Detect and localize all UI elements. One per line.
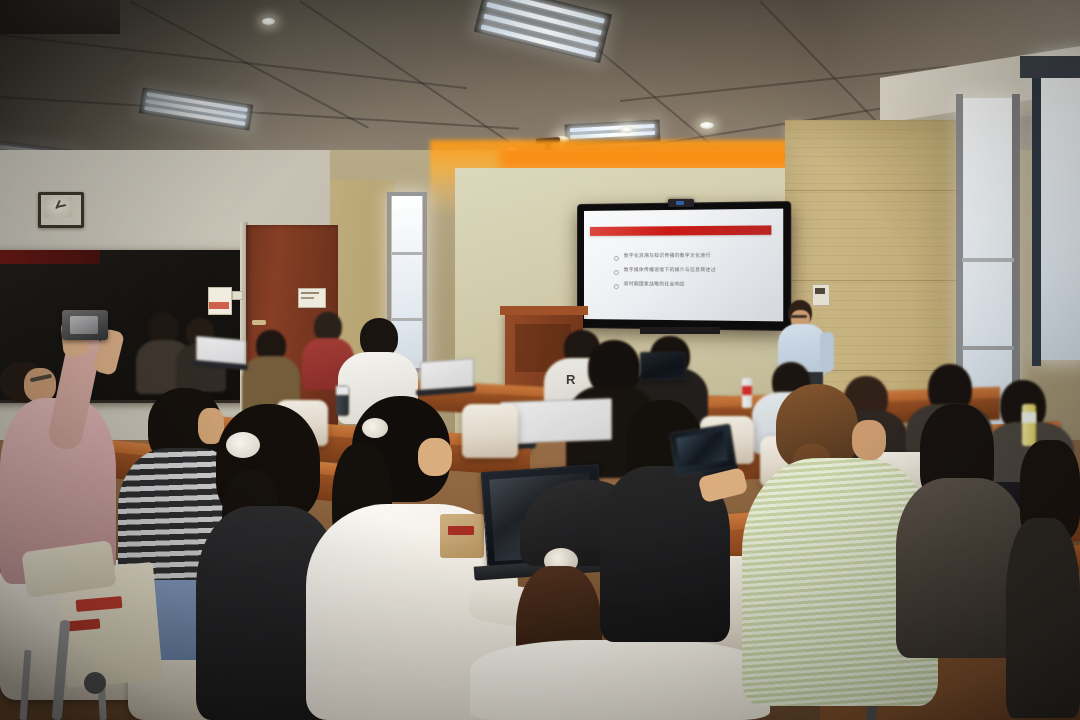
attendee-body-dark [1006,518,1080,718]
door-sign-line [301,292,319,294]
window-frame-dark [1032,56,1041,366]
poster-red-band [209,302,229,309]
glasses-icon [790,315,807,318]
window-rail [962,258,1014,262]
display-mount [640,327,720,334]
photo-scene: 数字化浪潮与知识传播的数字文化进行 数字媒体传播语境下的媒介与信息转述过 新时期… [0,0,1080,720]
attendee-white-top [470,640,770,720]
window-rail [392,318,422,321]
camera-screen [70,316,98,334]
presentation-display[interactable]: 数字化浪潮与知识传播的数字文化进行 数字媒体传播语境下的媒介与信息转述过 新时期… [584,209,783,322]
notice-poster [208,287,232,315]
camera-lens-indicator [676,201,684,205]
jacket-patch [440,514,484,558]
hair-scrunchie [226,432,260,458]
door-sign-line [301,297,314,299]
bottle-label [742,386,752,395]
door-handle[interactable] [252,320,266,325]
hair-tie [362,418,388,438]
patch-logo [448,526,474,535]
attendee-face [418,438,452,476]
downlight [700,122,714,129]
bottle-label [1022,412,1036,423]
slide-line-3: 新时期国家战略的社会响应 [624,281,685,287]
water-bottle [1022,404,1036,446]
blind-headrail [1020,56,1080,78]
laptop [640,352,686,380]
slide-line-2: 数字媒体传播语境下的媒介与信息转述过 [624,267,716,273]
slide-line-1: 数字化浪潮与知识传播的数字文化进行 [624,253,711,259]
attendee-face [24,368,56,402]
shirt-print: R [566,372,578,388]
window-rail [962,346,1014,350]
blackboard-red-strip [0,250,100,264]
wall-control-screen [815,288,825,294]
tumbler-lid [336,386,349,395]
attendee-face [852,420,886,460]
wall-switch[interactable] [232,291,243,300]
presenter-arm [820,332,834,372]
lectern-top [500,306,588,315]
window-rail [392,252,422,255]
slide-accent-bar [590,225,771,236]
trolley-wheel [84,672,106,694]
downlight [620,126,634,133]
chair [462,404,518,458]
window-right-outer [1040,60,1080,360]
